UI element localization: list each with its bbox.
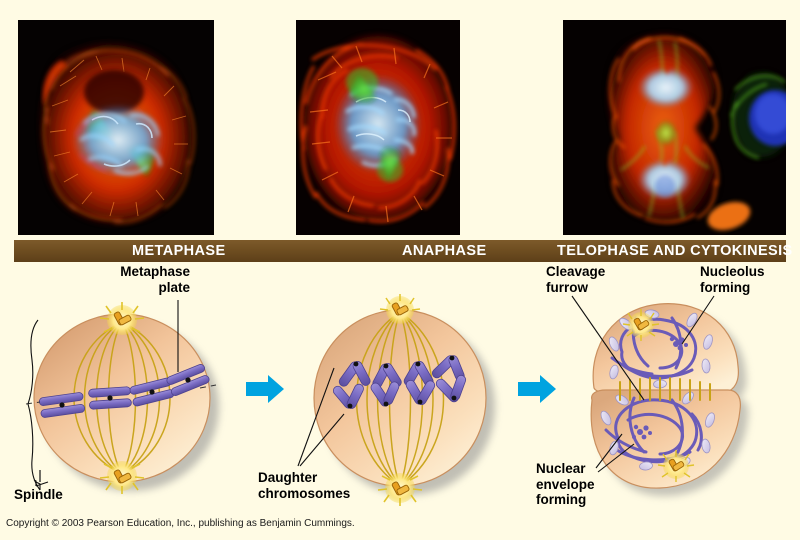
arrow-metaphase-to-anaphase	[246, 375, 284, 403]
metaphase-plate-axis	[26, 385, 216, 404]
label-daughter-chromosomes: Daughter chromosomes	[258, 470, 350, 501]
spindle-bracket	[28, 320, 40, 490]
telophase-cell-illustration	[572, 296, 748, 496]
centrosome-bottom	[378, 473, 422, 506]
banner-phase-metaphase: METAPHASE	[132, 240, 226, 262]
centrosome-bottom	[100, 461, 144, 494]
chromosome	[129, 377, 175, 407]
chromosome	[431, 354, 466, 382]
leader-nuclear-envelope-1	[596, 434, 622, 468]
nuclear-envelope-vesicles-upper	[607, 309, 714, 389]
chromosome	[88, 387, 131, 410]
leader-cleavage-furrow	[572, 296, 644, 400]
centrosome-top	[100, 302, 144, 335]
banner-phase-label: TELOPHASE AND CYTOKINESIS	[557, 243, 793, 259]
metaphase-micrograph	[18, 20, 214, 235]
telophase-micrograph	[563, 20, 786, 235]
chromosome	[166, 363, 211, 397]
label-nuclear-envelope-forming: Nuclear envelope forming	[536, 461, 595, 508]
banner-phase-telophase: TELOPHASE AND CYTOKINESIS	[557, 240, 793, 262]
chromosome	[371, 362, 403, 390]
leader-daughter-2	[300, 414, 344, 466]
chromosome	[337, 360, 371, 388]
leader-daughter-1	[298, 368, 334, 466]
chromosome	[332, 383, 366, 410]
arrow-anaphase-to-telophase	[518, 375, 556, 403]
nucleolus-lower	[632, 425, 652, 440]
daughter-cell-upper	[593, 304, 738, 392]
chromatin-lower	[606, 398, 701, 462]
chromosome	[369, 380, 400, 407]
nuclear-envelope-vesicles-lower	[599, 390, 716, 471]
figure-canvas: METAPHASE ANAPHASE TELOPHASE AND CYTOKIN…	[0, 0, 800, 540]
label-cleavage-furrow: Cleavage furrow	[546, 264, 605, 295]
daughter-cell-lower	[591, 390, 740, 488]
leader-nuclear-envelope-2	[598, 444, 634, 472]
nucleolus-upper	[670, 337, 688, 351]
anaphase-micrograph	[296, 20, 460, 235]
midbody-microtubules	[620, 378, 710, 400]
chromosome	[403, 360, 435, 388]
phase-banner: METAPHASE ANAPHASE TELOPHASE AND CYTOKIN…	[14, 240, 786, 262]
chromosome	[434, 374, 466, 404]
banner-phase-label: METAPHASE	[132, 243, 226, 259]
label-metaphase-plate: Metaphase plate	[18, 264, 190, 295]
banner-phase-anaphase: ANAPHASE	[402, 240, 487, 262]
metaphase-cell-illustration	[26, 300, 219, 494]
chromatin-upper	[612, 318, 696, 378]
chromosome	[405, 379, 437, 407]
centrosome-lower	[658, 450, 694, 482]
label-nucleolus-forming: Nucleolus forming	[700, 264, 765, 295]
banner-phase-label: ANAPHASE	[402, 243, 487, 259]
centrosome-upper	[623, 309, 659, 341]
leader-nucleolus-forming	[682, 296, 714, 344]
centrosome-top	[380, 294, 420, 324]
chromosome	[39, 392, 85, 418]
copyright-notice: Copyright © 2003 Pearson Education, Inc.…	[6, 518, 355, 529]
label-spindle: Spindle	[14, 487, 63, 503]
